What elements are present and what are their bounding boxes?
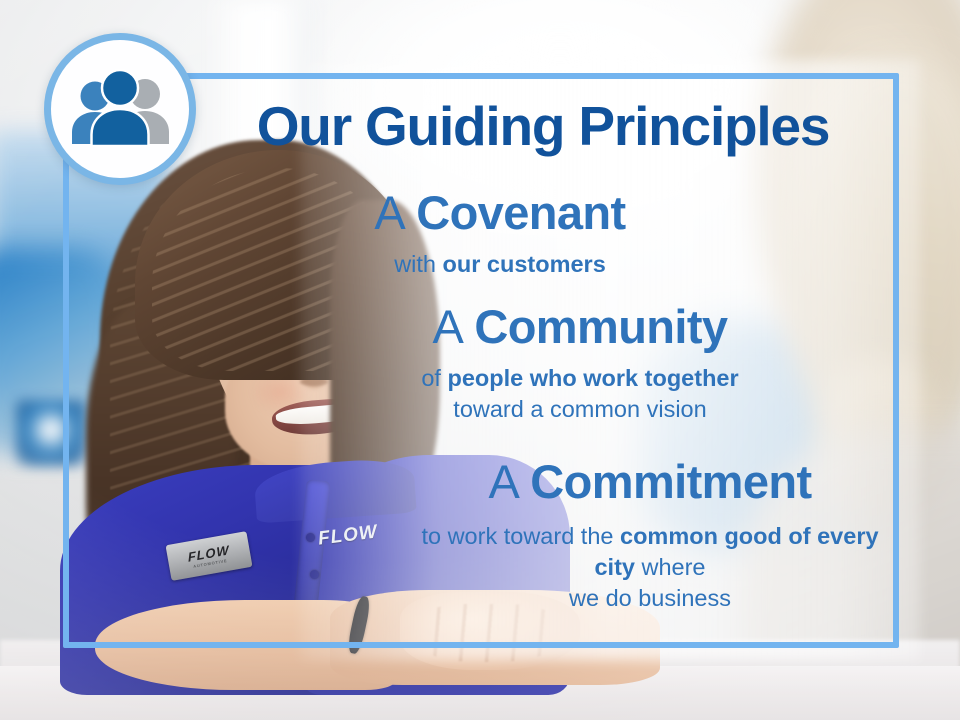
principle-sub-pre: to work toward the xyxy=(421,523,620,549)
car-emblem xyxy=(16,400,86,466)
principle-headline: A Commitment xyxy=(420,455,880,509)
principle-commitment: A Commitment to work toward the common g… xyxy=(420,455,880,614)
principle-sub-bold: people who work together xyxy=(447,365,738,391)
principle-subtext: of people who work together toward a com… xyxy=(340,363,820,425)
page-title: Our Guiding Principles xyxy=(218,96,868,156)
principle-word: Commitment xyxy=(530,455,811,508)
group-badge xyxy=(44,33,196,185)
banner-graphic: FLOW AUTOMOTIVE FLOW Our Guiding Princip… xyxy=(0,0,960,720)
principle-word: Community xyxy=(474,300,727,353)
principle-article: A xyxy=(433,300,475,353)
principle-sub-line2: we do business xyxy=(569,585,731,611)
principle-community: A Community of people who work together … xyxy=(340,300,820,425)
principle-article: A xyxy=(374,186,416,239)
principle-sub-pre: with xyxy=(394,251,442,277)
principle-covenant: A Covenant with our customers xyxy=(300,186,700,280)
group-of-people-icon xyxy=(66,66,174,152)
principle-sub-post: where xyxy=(635,554,706,580)
principle-subtext: with our customers xyxy=(300,249,700,280)
principle-sub-bold: our customers xyxy=(443,251,606,277)
principle-sub-pre: of xyxy=(421,365,447,391)
principle-article: A xyxy=(488,455,530,508)
principle-subtext: to work toward the common good of every … xyxy=(420,521,880,614)
principle-headline: A Covenant xyxy=(300,186,700,240)
principle-word: Covenant xyxy=(416,186,625,239)
principle-headline: A Community xyxy=(340,300,820,354)
principle-sub-line2: toward a common vision xyxy=(453,396,706,422)
